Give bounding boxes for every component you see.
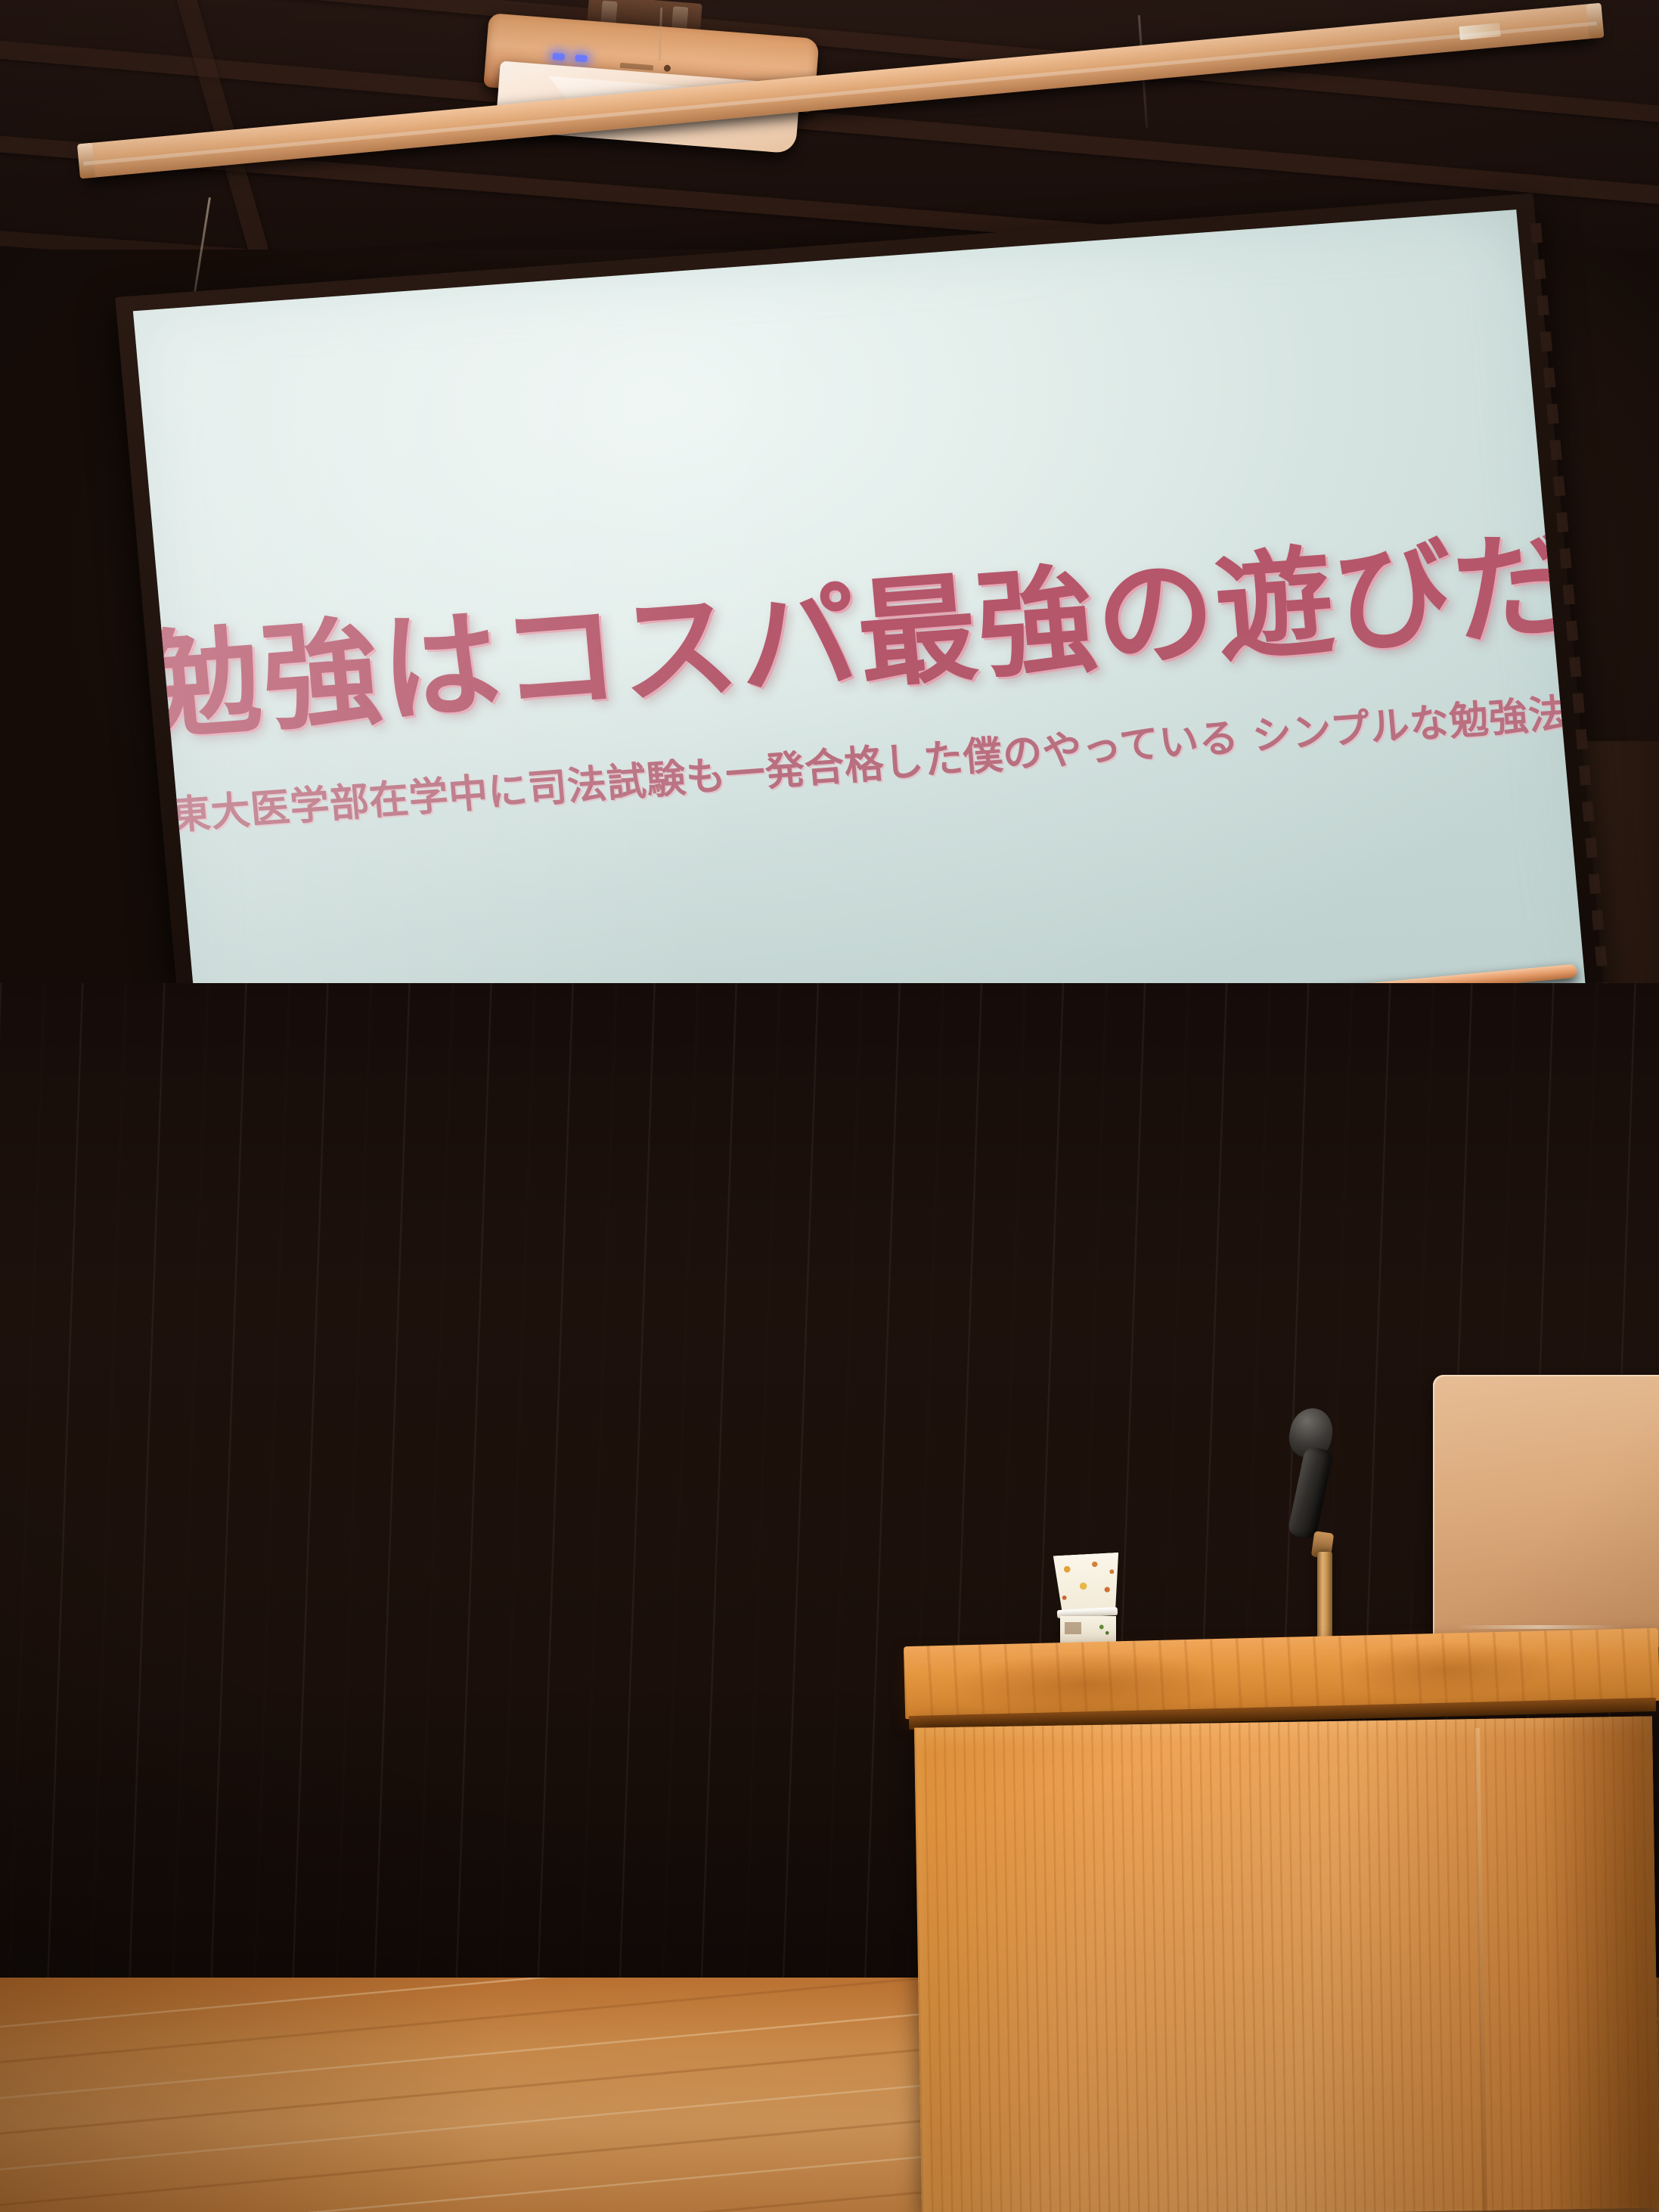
slide-subtitle: 〜東大医学部在学中に司法試験も一発合格した僕のやっている シンプルな勉強法〜 <box>133 678 1589 843</box>
microphone[interactable] <box>1270 1408 1361 1658</box>
hanging-cable <box>659 8 662 60</box>
screen-brand-badge <box>1459 23 1500 40</box>
slide-title: 勉強はコスパ最強の遊びだ <box>138 523 1579 751</box>
auditorium-stage-scene: 勉強はコスパ最強の遊びだ 〜東大医学部在学中に司法試験も一発合格した僕のやってい… <box>0 0 1659 2212</box>
blank-white-panel[interactable] <box>1433 1375 1659 1647</box>
roller-end-cap <box>77 143 95 179</box>
microphone-body <box>1287 1445 1334 1540</box>
paper-cup[interactable] <box>1048 1554 1131 1643</box>
paper-cup-inverted <box>1051 1553 1124 1615</box>
screen-roller-casing[interactable] <box>82 3 1599 178</box>
lectern[interactable] <box>904 1637 1659 2212</box>
lectern-front-panel <box>914 1716 1659 2212</box>
roller-end-cap <box>1586 3 1604 39</box>
